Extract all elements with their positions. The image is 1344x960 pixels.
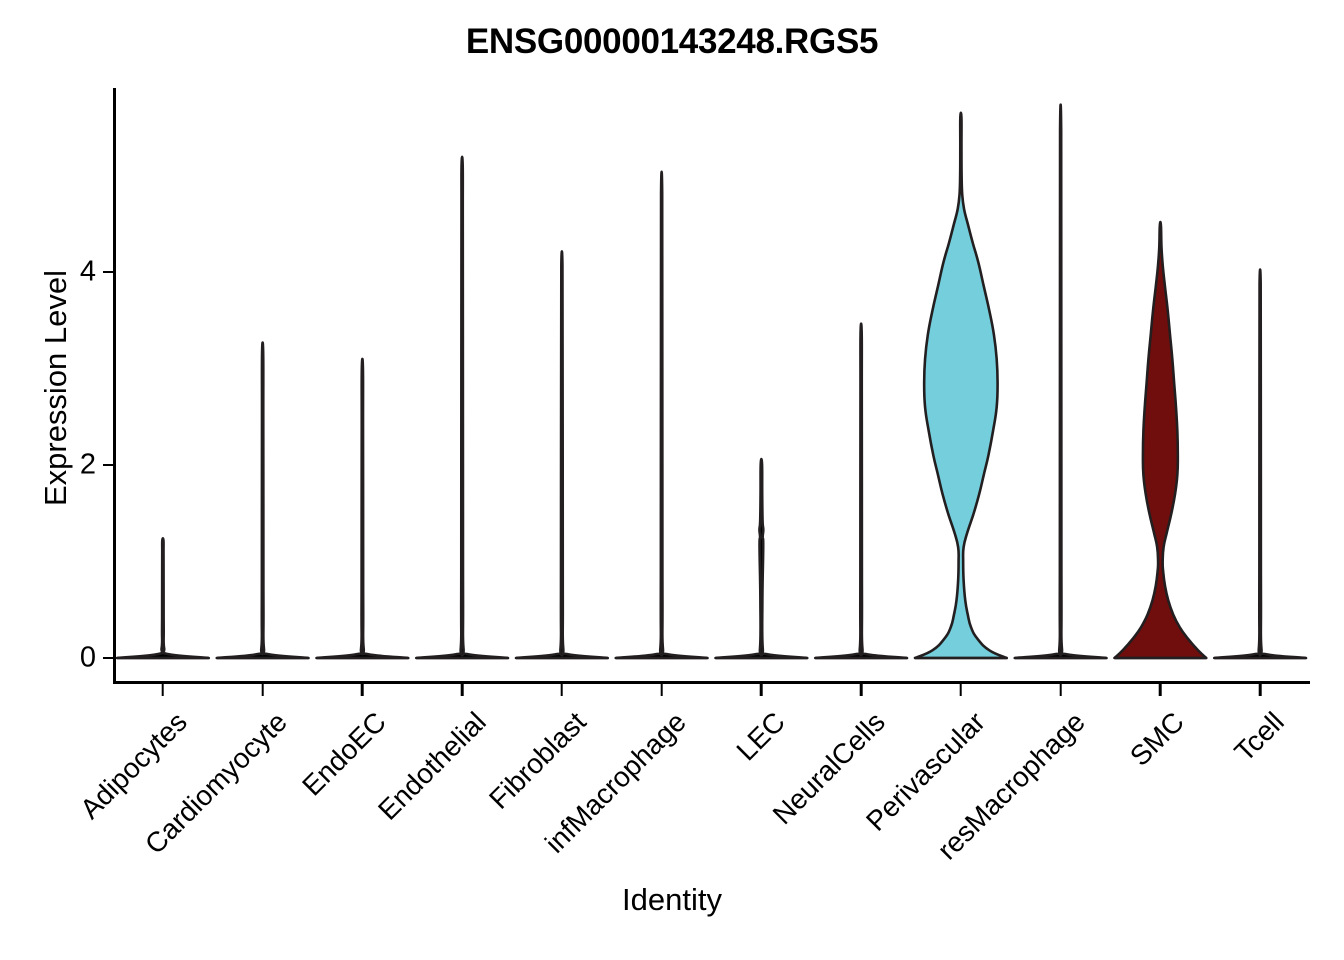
y-axis-tick-mark <box>103 271 113 274</box>
x-axis-tick-mark <box>860 684 863 696</box>
violin-fibroblast <box>516 251 608 658</box>
violin-shape <box>316 359 408 658</box>
x-axis-tick-mark <box>660 684 663 696</box>
y-axis-tick-label: 4 <box>56 256 96 289</box>
x-axis-tick-mark <box>760 684 763 696</box>
x-axis-tick-mark <box>1159 684 1162 696</box>
violin-shape <box>815 324 907 658</box>
violin-perivascular <box>915 113 1007 658</box>
x-axis-tick-mark <box>1059 684 1062 696</box>
violin-neuralcells <box>815 324 907 658</box>
x-axis-tick-mark <box>461 684 464 696</box>
y-axis-tick-mark <box>103 464 113 467</box>
violin-shape <box>416 157 508 658</box>
page-title: ENSG00000143248.RGS5 <box>0 22 1344 62</box>
violin-shape <box>715 459 807 658</box>
y-axis-tick-mark <box>103 657 113 660</box>
x-axis-tick-mark <box>1259 684 1262 696</box>
violin-endothelial <box>416 157 508 658</box>
y-axis-line <box>113 88 116 684</box>
x-axis-tick-mark <box>162 684 165 696</box>
violin-shape <box>1214 270 1306 658</box>
violin-infmacrophage <box>616 172 708 658</box>
x-axis-tick-mark <box>561 684 564 696</box>
y-axis-tick-label: 2 <box>56 449 96 482</box>
x-axis-tick-mark <box>361 684 364 696</box>
violin-shape <box>616 172 708 658</box>
violin-adipocytes <box>117 538 209 658</box>
violin-endoec <box>316 359 408 658</box>
y-axis-tick-label: 0 <box>56 642 96 675</box>
violin-shape <box>117 538 209 658</box>
violin-cardiomyocyte <box>217 343 309 658</box>
violin-resmacrophage <box>1015 105 1107 658</box>
x-axis-line <box>113 681 1310 684</box>
violin-shape <box>1015 105 1107 658</box>
x-axis-title: Identity <box>0 882 1344 918</box>
x-axis-tick-mark <box>960 684 963 696</box>
violin-lec <box>715 459 807 658</box>
x-axis-tick-mark <box>261 684 264 696</box>
violin-smc <box>1114 222 1206 658</box>
violin-tcell <box>1214 270 1306 658</box>
violin-plot-figure: ENSG00000143248.RGS5 Expression Level 02… <box>0 0 1344 960</box>
violin-shape <box>915 113 1007 658</box>
violin-shape <box>1114 222 1206 658</box>
violin-shape <box>217 343 309 658</box>
violin-shape <box>516 251 608 658</box>
